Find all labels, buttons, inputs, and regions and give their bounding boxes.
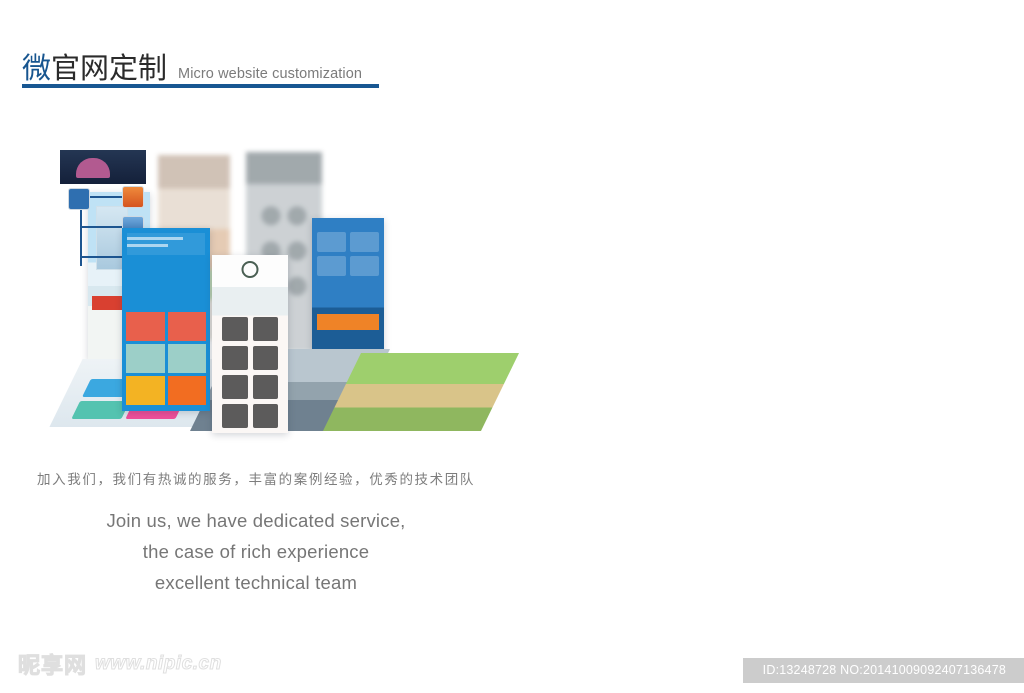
- left-heading-cn: 微官网定制: [22, 45, 167, 87]
- mockup-orange-bar: [317, 314, 379, 330]
- flow-node-root: [68, 188, 90, 210]
- mockup-icon-grid: [222, 317, 278, 428]
- left-caption-en-line-3: excellent technical team: [0, 567, 512, 598]
- mockup-city-icon-grid: [317, 232, 379, 276]
- left-column: 微官网定制 Micro website customization: [0, 0, 512, 693]
- mockup-blue-tile-app: [122, 228, 210, 411]
- website-mockup-collage: [60, 150, 460, 425]
- image-id-bar: ID:13248728 NO:20141009092407136478: [743, 658, 1024, 683]
- mockup-icon-menu-site: [212, 255, 288, 433]
- mockup-night-photo: [60, 150, 146, 184]
- mockup-tile-grid: [126, 312, 206, 405]
- left-caption-en-line-1: Join us, we have dedicated service,: [0, 505, 512, 536]
- mockup-logo-icon: [242, 261, 259, 278]
- left-caption-en: Join us, we have dedicated service, the …: [0, 505, 512, 598]
- left-heading-accent-char: 微: [22, 51, 51, 85]
- flow-line-2: [80, 226, 124, 228]
- poster-page: 微官网定制 Micro website customization: [0, 0, 1024, 693]
- left-heading-rest: 官网定制: [51, 51, 167, 85]
- flow-line-3: [80, 256, 124, 258]
- site-watermark: 昵享网 www.nipic.cn: [18, 648, 222, 680]
- left-heading-rule: [22, 84, 379, 88]
- left-caption-en-line-2: the case of rich experience: [0, 536, 512, 567]
- flow-node-1: [122, 186, 144, 208]
- left-caption-cn: 加入我们，我们有热诚的服务，丰富的案例经验，优秀的技术团队: [0, 468, 512, 488]
- mockup-header-lines: [127, 233, 205, 255]
- left-section-heading: 微官网定制 Micro website customization: [22, 45, 362, 87]
- right-column: 微信OA系统 Micro message in OA system 因为等待时间…: [512, 0, 1024, 693]
- watermark-url: www.nipic.cn: [95, 653, 222, 675]
- left-heading-en: Micro website customization: [178, 66, 362, 82]
- watermark-cn: 昵享网: [18, 648, 87, 680]
